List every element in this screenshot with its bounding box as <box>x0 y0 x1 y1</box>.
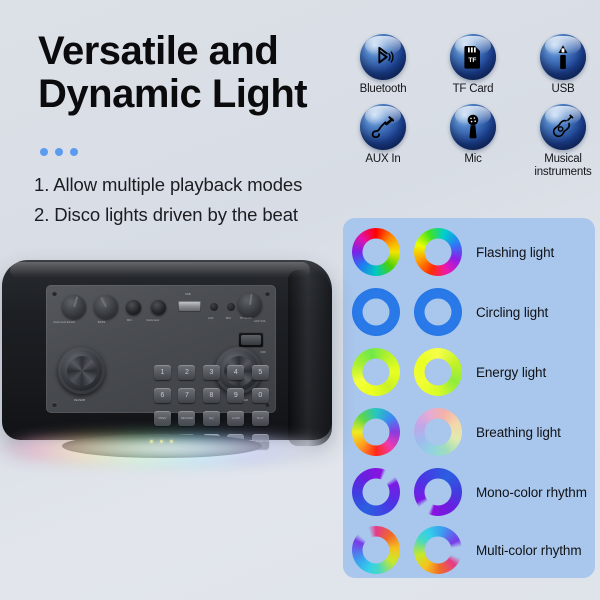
ring-icon <box>414 228 462 276</box>
keypad-function-key[interactable]: PREV <box>154 411 171 426</box>
port-label: MIC <box>226 317 231 320</box>
aux-plug-icon <box>360 104 406 150</box>
ring-icon <box>352 348 400 396</box>
jack-label: MIC <box>127 319 132 322</box>
screw-icon <box>52 291 57 296</box>
light-mode-rings <box>343 468 476 516</box>
ring-icon <box>352 468 400 516</box>
feature-label: USB <box>531 83 595 96</box>
decorative-dots <box>40 148 78 156</box>
ring-icon <box>414 288 462 336</box>
feature-bullet-list: 1. Allow multiple playback modes 2. Disc… <box>34 170 364 230</box>
keypad-key[interactable]: 8 <box>203 388 220 403</box>
keypad-key[interactable]: 4 <box>227 365 244 380</box>
microphone-icon <box>450 104 496 150</box>
keypad-key[interactable]: 7 <box>178 388 195 403</box>
page-title: Versatile and Dynamic Light <box>38 30 358 116</box>
headline-line-1: Versatile and <box>38 29 278 73</box>
list-item: 1. Allow multiple playback modes <box>34 170 364 200</box>
keypad-key[interactable]: 6 <box>154 388 171 403</box>
light-mode-label: Flashing light <box>476 245 554 260</box>
feature-tf-card: TF TF Card <box>441 34 505 96</box>
knob-label: BASS <box>98 321 105 324</box>
echo-knob[interactable] <box>62 295 86 319</box>
feature-label: TF Card <box>441 83 505 96</box>
keypad-key[interactable]: 5 <box>252 365 269 380</box>
instrument-jack[interactable] <box>151 300 166 315</box>
keypad-function-key[interactable]: RECORD <box>178 411 195 426</box>
light-mode-row: Mono-color rhythm <box>343 462 595 522</box>
control-faceplate: Instrument ECHO BASS MIC Instrument USB … <box>46 285 276 413</box>
feature-label: AUX In <box>351 153 415 166</box>
light-mode-rings <box>343 408 476 456</box>
feature-mic: Mic <box>441 104 505 179</box>
bluetooth-icon <box>360 34 406 80</box>
aux-volume-knob[interactable] <box>238 293 262 317</box>
light-mode-row: Multi-color rhythm <box>343 520 595 580</box>
connectivity-feature-icons: Bluetooth TF TF Card <box>345 34 595 179</box>
light-modes-panel: Flashing light Circling light Energy lig… <box>343 218 595 578</box>
mic-port[interactable] <box>227 303 235 311</box>
port-label: AUX <box>208 317 214 320</box>
light-mode-label: Energy light <box>476 365 546 380</box>
light-mode-row: Breathing light <box>343 402 595 462</box>
ring-icon <box>414 468 462 516</box>
light-mode-label: Multi-color rhythm <box>476 543 581 558</box>
knob-label: Instrument ECHO <box>53 321 75 324</box>
promo-graphic: Versatile and Dynamic Light 1. Allow mul… <box>0 0 600 600</box>
tf-card-icon: TF <box>450 34 496 80</box>
keypad-key[interactable]: 2 <box>178 365 195 380</box>
jack-label: Instrument <box>146 319 159 322</box>
mic-jack[interactable] <box>126 300 141 315</box>
light-mode-rings <box>343 228 476 276</box>
speaker-product-image: Instrument ECHO BASS MIC Instrument USB … <box>0 252 338 457</box>
svg-text:TF: TF <box>468 57 476 64</box>
ring-icon <box>414 348 462 396</box>
feature-usb: USB <box>531 34 595 96</box>
dot-icon <box>55 148 63 156</box>
keypad-function-key[interactable]: PLAY <box>252 411 269 426</box>
light-mode-rings <box>343 526 476 574</box>
switch-label-off: OFF <box>261 351 267 354</box>
feature-label: Mic <box>441 153 505 166</box>
speaker-side-panel <box>288 270 332 446</box>
usb-icon <box>540 34 586 80</box>
reverb-knob[interactable] <box>58 347 105 394</box>
light-mode-label: Mono-color rhythm <box>476 485 587 500</box>
ring-icon <box>352 228 400 276</box>
feature-label: Bluetooth <box>351 83 415 96</box>
keypad-key[interactable]: 1 <box>154 365 171 380</box>
screw-icon <box>52 402 57 407</box>
light-mode-row: Circling light <box>343 282 595 342</box>
list-item: 2. Disco lights driven by the beat <box>34 200 364 230</box>
ring-icon <box>352 526 400 574</box>
ring-icon <box>352 288 400 336</box>
ring-icon <box>414 526 462 574</box>
headline-line-2: Dynamic Light <box>38 73 358 116</box>
keypad-key[interactable]: 9 <box>227 388 244 403</box>
ring-icon <box>352 408 400 456</box>
guitar-icon <box>540 104 586 150</box>
light-mode-label: Breathing light <box>476 425 561 440</box>
ring-icon <box>414 408 462 456</box>
knob-label: REVERB <box>74 399 85 402</box>
feature-aux-in: AUX In <box>351 104 415 179</box>
dot-icon <box>70 148 78 156</box>
port-label: TF CARD <box>240 317 252 320</box>
feature-label: Musical instruments <box>531 153 595 179</box>
bass-knob[interactable] <box>94 295 118 319</box>
keypad-function-key[interactable]: EQ <box>203 411 220 426</box>
feature-bluetooth: Bluetooth <box>351 34 415 96</box>
keypad-function-key[interactable]: LOOP <box>227 411 244 426</box>
light-mode-row: Flashing light <box>343 222 595 282</box>
light-mode-rings <box>343 288 476 336</box>
dot-icon <box>40 148 48 156</box>
keypad-key[interactable]: 0 <box>252 388 269 403</box>
light-mode-rings <box>343 348 476 396</box>
screw-icon <box>265 291 270 296</box>
port-label: USB <box>185 293 191 296</box>
knob-label: AUX VOL <box>254 320 266 323</box>
feature-musical-instruments: Musical instruments <box>531 104 595 179</box>
rgb-light-highlight <box>6 442 326 468</box>
keypad-key[interactable]: 3 <box>203 365 220 380</box>
light-mode-label: Circling light <box>476 305 548 320</box>
speaker-body: Instrument ECHO BASS MIC Instrument USB … <box>2 260 332 440</box>
aux-port[interactable] <box>210 303 218 311</box>
light-mode-row: Energy light <box>343 342 595 402</box>
usb-port[interactable] <box>178 301 201 312</box>
power-switch[interactable] <box>238 332 264 348</box>
